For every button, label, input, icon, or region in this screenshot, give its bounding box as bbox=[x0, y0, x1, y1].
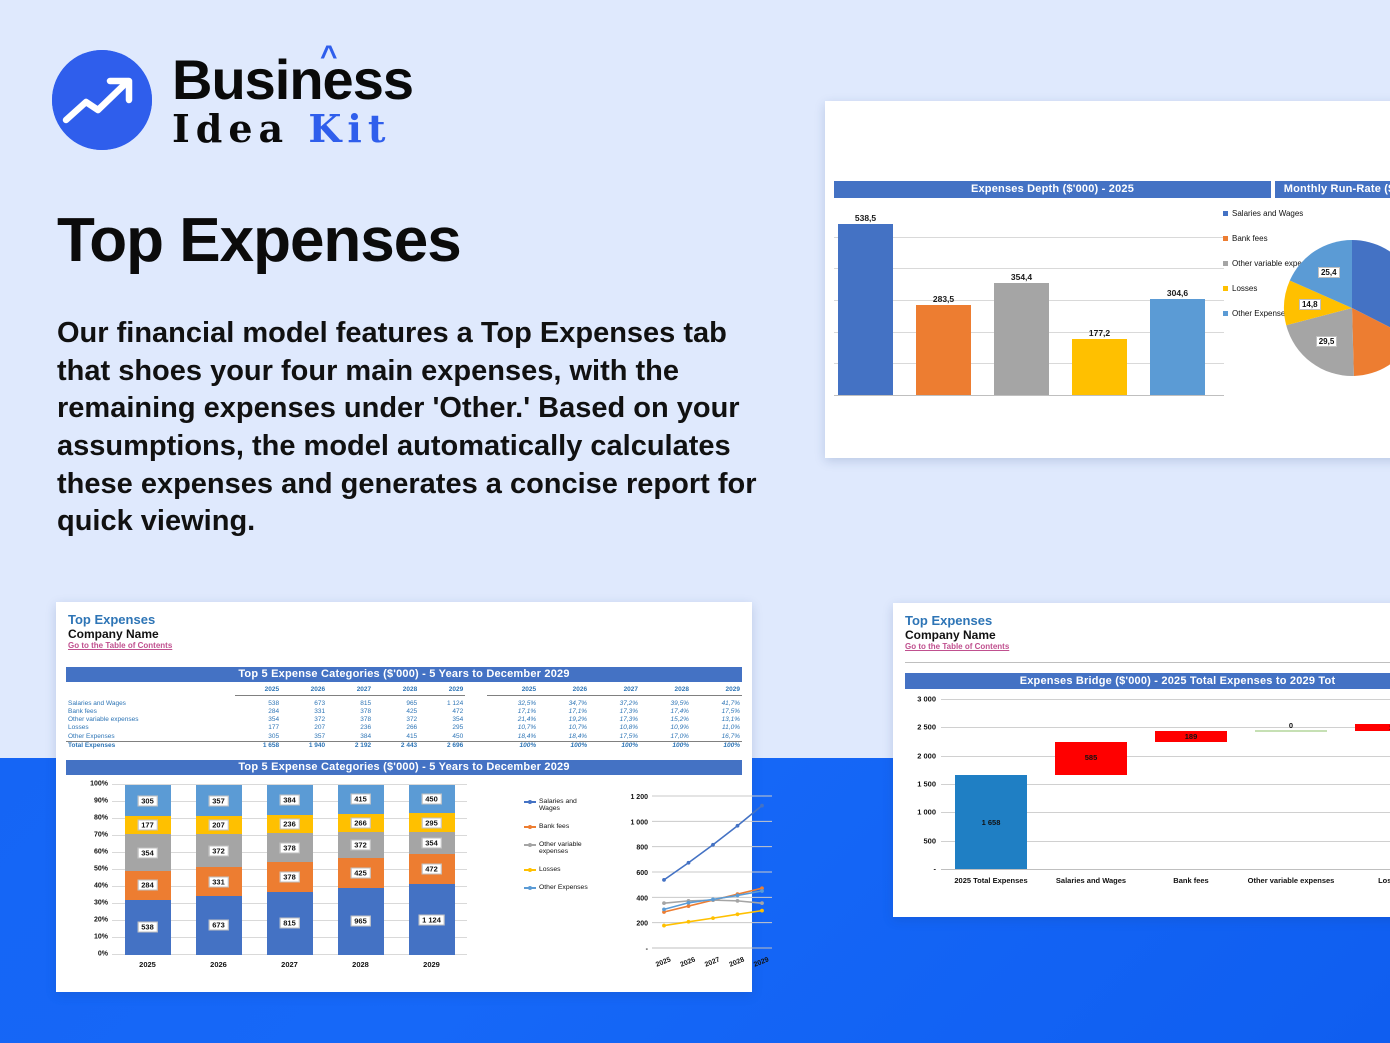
column-gap bbox=[465, 708, 487, 716]
pie-slices bbox=[1282, 236, 1390, 386]
legend-item: Other Expenses bbox=[524, 884, 590, 891]
table-cell-percent: 17,1% bbox=[487, 708, 538, 716]
table-cell-percent: 17,5% bbox=[691, 708, 742, 716]
stack-segment: 236 bbox=[267, 815, 313, 833]
legend-label: Bank fees bbox=[539, 823, 569, 830]
segment-value-label: 177 bbox=[137, 820, 158, 831]
y-axis-tick: 80% bbox=[94, 815, 108, 822]
pie-data-label: 25,4 bbox=[1318, 267, 1340, 278]
table-cell-percent: 17,4% bbox=[640, 708, 691, 716]
stack-segment: 538 bbox=[125, 900, 171, 955]
table-cell-percent: 17,3% bbox=[589, 716, 640, 724]
stack-segment: 450 bbox=[409, 785, 455, 813]
x-axis-tick: Bank fees bbox=[1173, 876, 1208, 885]
stack-segment: 295 bbox=[409, 813, 455, 832]
table-cell-amount: 815 bbox=[327, 700, 373, 708]
table-cell-percent: 15,2% bbox=[640, 716, 691, 724]
table-cell-percent: 39,5% bbox=[640, 700, 691, 708]
legend-label: Salaries and Wages bbox=[539, 798, 590, 812]
bar-value-label: 189 bbox=[1185, 732, 1198, 741]
chart-title-expenses-depth: Expenses Depth ($'000) - 2025 bbox=[834, 181, 1271, 198]
legend-swatch bbox=[1223, 261, 1228, 266]
column-header: 2027 bbox=[589, 686, 640, 696]
segment-value-label: 236 bbox=[279, 818, 300, 829]
svg-text:600: 600 bbox=[636, 870, 648, 877]
brand-name-kit: Kit bbox=[308, 106, 391, 151]
segment-value-label: 472 bbox=[421, 864, 442, 875]
table-cell-amount: 384 bbox=[327, 733, 373, 742]
waterfall-bar bbox=[1255, 730, 1327, 732]
bar-value-label: 0 bbox=[1289, 721, 1293, 730]
x-axis-tick: Losses bbox=[1378, 876, 1390, 885]
table-cell-amount: 354 bbox=[419, 716, 465, 724]
y-axis-tick: 100% bbox=[90, 781, 108, 788]
table-cell-percent: 100% bbox=[691, 741, 742, 750]
legend-line bbox=[524, 869, 536, 871]
table-cell-amount: 673 bbox=[281, 700, 327, 708]
legend-swatch bbox=[1223, 286, 1228, 291]
svg-text:2026: 2026 bbox=[679, 956, 696, 968]
column-gap bbox=[465, 733, 487, 742]
stack-segment: 1 124 bbox=[409, 884, 455, 955]
stack-segment: 372 bbox=[338, 832, 384, 858]
stack-segment: 354 bbox=[409, 832, 455, 854]
table-cell-amount: 331 bbox=[281, 708, 327, 716]
table-cell-percent: 32,5% bbox=[487, 700, 538, 708]
table-cell-percent: 37,2% bbox=[589, 700, 640, 708]
legend-label: Other Expenses bbox=[1232, 309, 1289, 318]
table-cell-amount: 2 192 bbox=[327, 741, 373, 750]
legend-line bbox=[524, 826, 536, 828]
table-cell-amount: 177 bbox=[235, 724, 281, 732]
sheet-header: Top Expenses Company Name Go to the Tabl… bbox=[893, 603, 1390, 651]
stack-segment: 305 bbox=[125, 785, 171, 816]
table-cell-percent: 17,3% bbox=[589, 708, 640, 716]
svg-text:-: - bbox=[646, 946, 649, 953]
x-axis-tick: 2025 Total Expenses bbox=[954, 876, 1027, 885]
legend-swatch bbox=[1223, 236, 1228, 241]
table-cell-percent: 18,4% bbox=[538, 733, 589, 742]
table-cell-percent: 100% bbox=[589, 741, 640, 750]
svg-text:200: 200 bbox=[636, 921, 648, 928]
brand-caret-icon: ^ bbox=[320, 42, 337, 72]
brand-name-primary: Business ^ bbox=[172, 52, 413, 108]
table-cell-percent: 21,4% bbox=[487, 716, 538, 724]
table-cell-percent: 34,7% bbox=[538, 700, 589, 708]
x-axis-tick: 2029 bbox=[396, 960, 467, 969]
table-cell-percent: 16,7% bbox=[691, 733, 742, 742]
y-axis-tick: 10% bbox=[94, 934, 108, 941]
y-axis-tick: 30% bbox=[94, 900, 108, 907]
bar bbox=[1150, 299, 1205, 395]
bar-value-label: 354,4 bbox=[994, 272, 1049, 282]
column-header: 2029 bbox=[691, 686, 742, 696]
legend-label: Losses bbox=[1232, 284, 1257, 293]
table-row: Other variable expenses35437237837235421… bbox=[66, 716, 742, 724]
table-row: Losses17720723626629510,7%10,7%10,8%10,9… bbox=[66, 724, 742, 732]
table-cell-percent: 17,5% bbox=[589, 733, 640, 742]
table-cell-percent: 100% bbox=[487, 741, 538, 750]
segment-value-label: 450 bbox=[421, 794, 442, 805]
brand-name-secondary: Idea Kit bbox=[172, 110, 413, 148]
table-row: Total Expenses1 6581 9402 1922 4432 6961… bbox=[66, 741, 742, 750]
stacked-column: 305177354284538 bbox=[125, 785, 171, 955]
x-axis-tick: 2025 bbox=[112, 960, 183, 969]
table-row: Bank fees28433137842547217,1%17,1%17,3%1… bbox=[66, 708, 742, 716]
stack-segment: 331 bbox=[196, 867, 242, 896]
legend-swatch bbox=[1223, 211, 1228, 216]
y-axis-tick: 20% bbox=[94, 917, 108, 924]
sheet-header: Top Expenses Company Name Go to the Tabl… bbox=[56, 602, 752, 650]
segment-value-label: 357 bbox=[208, 795, 229, 806]
growth-arrow-circle-icon bbox=[52, 50, 152, 150]
stacked-column: 357207372331673 bbox=[196, 785, 242, 955]
stack-segment: 372 bbox=[196, 834, 242, 867]
gridline bbox=[941, 699, 1390, 700]
bar-value-label: 304,6 bbox=[1150, 288, 1205, 298]
legend-item: Salaries and Wages bbox=[524, 798, 590, 812]
table-cell-amount: 425 bbox=[373, 708, 419, 716]
y-axis-tick: - bbox=[934, 865, 937, 874]
y-axis-tick: 70% bbox=[94, 832, 108, 839]
segment-value-label: 378 bbox=[279, 842, 300, 853]
legend-line bbox=[524, 844, 536, 846]
row-label: Bank fees bbox=[66, 708, 235, 716]
bar-value-label: 1 658 bbox=[982, 818, 1001, 827]
stack-segment: 378 bbox=[267, 862, 313, 891]
table-cell-percent: 17,0% bbox=[640, 733, 691, 742]
segment-value-label: 965 bbox=[350, 916, 371, 927]
svg-text:1 000: 1 000 bbox=[630, 819, 648, 826]
legend-swatch bbox=[1223, 311, 1228, 316]
pie-data-label: 29,5 bbox=[1316, 336, 1338, 347]
column-gap bbox=[465, 724, 487, 732]
page-title: Top Expenses bbox=[57, 205, 461, 276]
table-cell-amount: 284 bbox=[235, 708, 281, 716]
stack-segment: 207 bbox=[196, 816, 242, 834]
column-gap bbox=[465, 741, 487, 750]
bar bbox=[838, 224, 893, 395]
gridline bbox=[941, 727, 1390, 728]
table-cell-amount: 415 bbox=[373, 733, 419, 742]
waterfall-bar bbox=[1355, 724, 1390, 731]
brand-name-primary-text: Business bbox=[172, 48, 413, 111]
svg-text:400: 400 bbox=[636, 895, 648, 902]
segment-value-label: 815 bbox=[279, 918, 300, 929]
table-cell-amount: 372 bbox=[373, 716, 419, 724]
chart-legend-top5: Salaries and Wages Bank fees Other varia… bbox=[524, 798, 590, 902]
segment-value-label: 354 bbox=[421, 838, 442, 849]
stack-segment: 472 bbox=[409, 854, 455, 884]
table-row: Other Expenses30535738441545018,4%18,4%1… bbox=[66, 733, 742, 742]
stack-segment: 815 bbox=[267, 892, 313, 955]
top5-expense-table: 2025202620272028202920252026202720282029… bbox=[66, 686, 742, 750]
table-cell-amount: 965 bbox=[373, 700, 419, 708]
svg-text:800: 800 bbox=[636, 845, 648, 852]
segment-value-label: 295 bbox=[421, 817, 442, 828]
y-axis-tick: 3 000 bbox=[917, 695, 936, 704]
column-header: 2025 bbox=[487, 686, 538, 696]
y-axis-tick: 1 000 bbox=[917, 808, 936, 817]
column-header: 2026 bbox=[538, 686, 589, 696]
bar bbox=[1072, 339, 1127, 395]
bar bbox=[994, 283, 1049, 395]
stack-segment: 357 bbox=[196, 785, 242, 816]
table-cell-percent: 11,0% bbox=[691, 724, 742, 732]
stacked-column: 4502953544721 124 bbox=[409, 785, 455, 955]
table-cell-amount: 295 bbox=[419, 724, 465, 732]
table-cell-percent: 10,8% bbox=[589, 724, 640, 732]
table-cell-percent: 100% bbox=[538, 741, 589, 750]
stack-segment: 284 bbox=[125, 871, 171, 900]
row-label-header bbox=[66, 686, 235, 696]
line-chart-top5: 1 2001 000800600400200-20252026202720282… bbox=[626, 790, 772, 970]
chart-title-expenses-bridge: Expenses Bridge ($'000) - 2025 Total Exp… bbox=[905, 673, 1390, 689]
column-header: 2029 bbox=[419, 686, 465, 696]
table-cell-amount: 2 443 bbox=[373, 741, 419, 750]
legend-label: Bank fees bbox=[1232, 234, 1268, 243]
y-axis-tick: 90% bbox=[94, 798, 108, 805]
table-cell-amount: 1 124 bbox=[419, 700, 465, 708]
table-cell-percent: 13,1% bbox=[691, 716, 742, 724]
brand-name-idea: Idea bbox=[172, 106, 289, 151]
bar-value-label: 283,5 bbox=[916, 294, 971, 304]
segment-value-label: 378 bbox=[279, 872, 300, 883]
column-header: 2027 bbox=[327, 686, 373, 696]
legend-item: Other variable expenses bbox=[524, 841, 590, 855]
stack-segment: 354 bbox=[125, 834, 171, 870]
svg-text:2025: 2025 bbox=[655, 956, 672, 968]
svg-text:1 200: 1 200 bbox=[630, 794, 648, 801]
table-cell-amount: 236 bbox=[327, 724, 373, 732]
svg-text:2027: 2027 bbox=[704, 956, 721, 968]
table-title-band: Top 5 Expense Categories ($'000) - 5 Yea… bbox=[66, 667, 742, 682]
column-header: 2026 bbox=[281, 686, 327, 696]
table-cell-amount: 305 bbox=[235, 733, 281, 742]
chart-title-row: Expenses Depth ($'000) - 2025 Monthly Ru… bbox=[834, 181, 1390, 198]
brand-logo: Business ^ Idea Kit bbox=[52, 50, 413, 150]
stack-segment: 415 bbox=[338, 785, 384, 814]
y-axis-tick: 500 bbox=[923, 836, 936, 845]
table-header-row: 2025202620272028202920252026202720282029 bbox=[66, 686, 742, 696]
column-header: 2028 bbox=[373, 686, 419, 696]
stack-segment: 177 bbox=[125, 816, 171, 834]
table-cell-percent: 10,7% bbox=[538, 724, 589, 732]
y-axis-tick: 40% bbox=[94, 883, 108, 890]
stack-segment: 425 bbox=[338, 858, 384, 888]
segment-value-label: 384 bbox=[279, 794, 300, 805]
y-axis-tick: 60% bbox=[94, 849, 108, 856]
legend-item: Losses bbox=[524, 866, 590, 873]
table-cell-amount: 354 bbox=[235, 716, 281, 724]
expense-table: 2025202620272028202920252026202720282029… bbox=[66, 686, 742, 750]
pie-chart-monthly-run-rate: 29,514,825,4 bbox=[1282, 236, 1390, 386]
column-gap bbox=[465, 716, 487, 724]
row-label: Salaries and Wages bbox=[66, 700, 235, 708]
y-axis-tick: 0% bbox=[98, 951, 108, 958]
stacked-column: 384236378378815 bbox=[267, 785, 313, 955]
stacked-bar-chart-top5: 100%90%80%70%60%50%40%30%20%10%0%3051773… bbox=[112, 784, 467, 969]
table-cell-amount: 538 bbox=[235, 700, 281, 708]
column-header: 2025 bbox=[235, 686, 281, 696]
segment-value-label: 415 bbox=[350, 794, 371, 805]
gridline bbox=[941, 869, 1390, 870]
bar-chart-expenses-depth: 538,5283,5354,4177,2304,6 bbox=[834, 205, 1224, 395]
table-cell-amount: 378 bbox=[327, 716, 373, 724]
page-description: Our financial model features a Top Expen… bbox=[57, 315, 757, 541]
stacked-column: 415266372425965 bbox=[338, 785, 384, 955]
legend-item: Salaries and Wages bbox=[1223, 209, 1328, 218]
table-cell-amount: 2 696 bbox=[419, 741, 465, 750]
column-gap bbox=[465, 700, 487, 708]
table-cell-amount: 450 bbox=[419, 733, 465, 742]
table-cell-percent: 41,7% bbox=[691, 700, 742, 708]
sheet-title: Top Expenses bbox=[68, 612, 752, 627]
y-axis-tick: 2 000 bbox=[917, 751, 936, 760]
chart-title-monthly-run-rate: Monthly Run-Rate ($'000 bbox=[1275, 181, 1390, 198]
segment-value-label: 305 bbox=[137, 795, 158, 806]
y-axis-tick: 1 500 bbox=[917, 780, 936, 789]
stack-segment: 384 bbox=[267, 785, 313, 815]
chart-title-band: Top 5 Expense Categories ($'000) - 5 Yea… bbox=[66, 760, 742, 775]
x-axis-tick: 2027 bbox=[254, 960, 325, 969]
stack-segment: 378 bbox=[267, 833, 313, 862]
bar bbox=[916, 305, 971, 395]
segment-value-label: 207 bbox=[208, 820, 229, 831]
segment-value-label: 425 bbox=[350, 868, 371, 879]
stack-segment: 266 bbox=[338, 814, 384, 833]
table-cell-amount: 378 bbox=[327, 708, 373, 716]
legend-label: Salaries and Wages bbox=[1232, 209, 1303, 218]
segment-value-label: 372 bbox=[208, 845, 229, 856]
segment-value-label: 266 bbox=[350, 818, 371, 829]
table-cell-amount: 266 bbox=[373, 724, 419, 732]
table-row: Salaries and Wages5386738159651 12432,5%… bbox=[66, 700, 742, 708]
legend-line bbox=[524, 801, 536, 803]
svg-text:2029: 2029 bbox=[753, 956, 770, 968]
axis-line bbox=[834, 395, 1224, 396]
toc-link[interactable]: Go to the Table of Contents bbox=[68, 641, 752, 650]
legend-item: Bank fees bbox=[524, 823, 590, 830]
bar-value-label: 585 bbox=[1085, 753, 1098, 762]
segment-value-label: 673 bbox=[208, 920, 229, 931]
line-chart-svg: 1 2001 000800600400200-20252026202720282… bbox=[626, 790, 772, 970]
table-cell-amount: 372 bbox=[281, 716, 327, 724]
row-label: Total Expenses bbox=[66, 741, 235, 750]
legend-label: Other Expenses bbox=[539, 884, 588, 891]
x-axis-tick: 2028 bbox=[325, 960, 396, 969]
column-header: 2028 bbox=[640, 686, 691, 696]
table-cell-amount: 1 658 bbox=[235, 741, 281, 750]
sheet-title: Top Expenses bbox=[905, 613, 1390, 628]
legend-label: Losses bbox=[539, 866, 561, 873]
table-cell-amount: 1 940 bbox=[281, 741, 327, 750]
pie-data-label: 14,8 bbox=[1299, 299, 1321, 310]
legend-label: Other variable expenses bbox=[539, 841, 590, 855]
dashboard-panel-top5-categories: Top Expenses Company Name Go to the Tabl… bbox=[56, 602, 752, 992]
row-label: Losses bbox=[66, 724, 235, 732]
y-axis-tick: 2 500 bbox=[917, 723, 936, 732]
table-cell-amount: 357 bbox=[281, 733, 327, 742]
x-axis-tick: 2026 bbox=[183, 960, 254, 969]
segment-value-label: 331 bbox=[208, 876, 229, 887]
stack-segment: 673 bbox=[196, 896, 242, 955]
waterfall-chart-expenses-bridge: 3 0002 5002 0001 5001 000500-1 6582025 T… bbox=[941, 699, 1390, 894]
svg-text:2028: 2028 bbox=[728, 956, 745, 968]
segment-value-label: 354 bbox=[137, 847, 158, 858]
row-label: Other variable expenses bbox=[66, 716, 235, 724]
gridline bbox=[941, 756, 1390, 757]
sheet-divider bbox=[905, 662, 1390, 663]
x-axis-tick: Salaries and Wages bbox=[1056, 876, 1126, 885]
table-cell-percent: 100% bbox=[640, 741, 691, 750]
y-axis-tick: 50% bbox=[94, 866, 108, 873]
segment-value-label: 1 124 bbox=[418, 914, 445, 925]
column-gap bbox=[465, 686, 487, 696]
sheet-company-name: Company Name bbox=[905, 628, 1390, 642]
x-axis-tick: Other variable expenses bbox=[1248, 876, 1335, 885]
dashboard-panel-expenses-bridge: Top Expenses Company Name Go to the Tabl… bbox=[893, 603, 1390, 917]
toc-link[interactable]: Go to the Table of Contents bbox=[905, 642, 1390, 651]
bar-value-label: 177,2 bbox=[1072, 328, 1127, 338]
sheet-company-name: Company Name bbox=[68, 627, 752, 641]
table-cell-percent: 18,4% bbox=[487, 733, 538, 742]
table-cell-percent: 10,9% bbox=[640, 724, 691, 732]
table-cell-amount: 207 bbox=[281, 724, 327, 732]
stack-segment: 965 bbox=[338, 888, 384, 955]
legend-line bbox=[524, 887, 536, 889]
table-cell-amount: 472 bbox=[419, 708, 465, 716]
row-label: Other Expenses bbox=[66, 733, 235, 742]
table-cell-percent: 17,1% bbox=[538, 708, 589, 716]
bar-value-label: 538,5 bbox=[838, 213, 893, 223]
segment-value-label: 538 bbox=[137, 922, 158, 933]
table-cell-percent: 10,7% bbox=[487, 724, 538, 732]
table-cell-percent: 19,2% bbox=[538, 716, 589, 724]
segment-value-label: 372 bbox=[350, 840, 371, 851]
segment-value-label: 284 bbox=[137, 880, 158, 891]
